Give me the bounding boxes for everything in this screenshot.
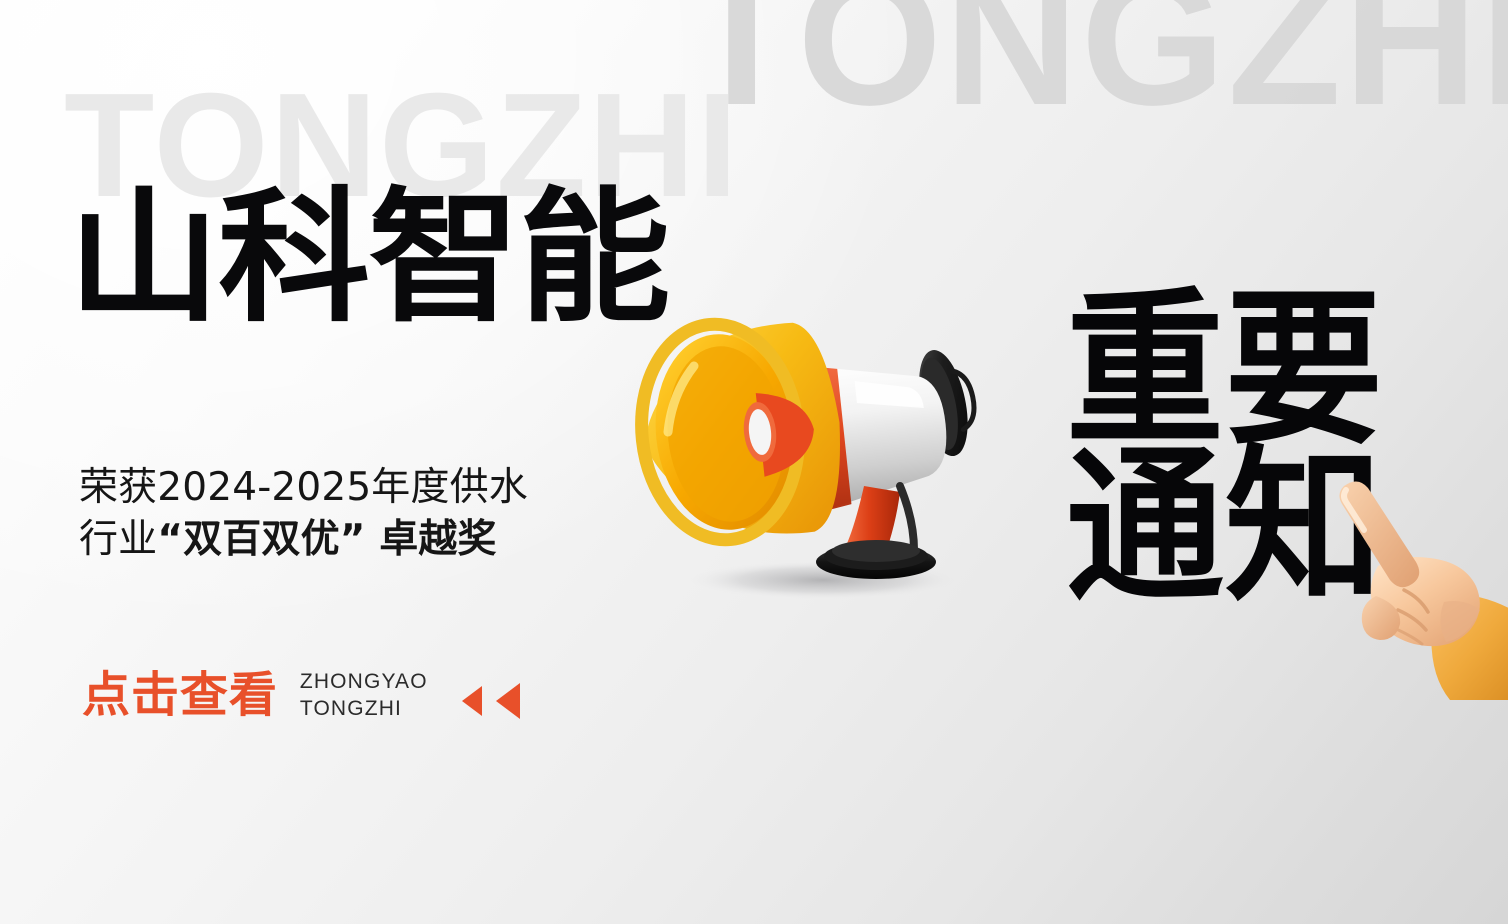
cta-pinyin-line-1: ZHONGYAO — [300, 668, 428, 695]
award-subtitle-line-2: 行业“双百双优” 卓越奖 — [79, 514, 528, 566]
cta-label[interactable]: 点击查看 — [82, 671, 278, 719]
notice-banner: TONGZHI TONGZHI 山科智能 荣获2024-2025年度供水 行业“… — [0, 0, 1508, 924]
notice-headline-line-1: 重要 — [1066, 292, 1384, 449]
award-subtitle-line-2-suffix: 卓越奖 — [366, 517, 497, 562]
megaphone-3d-icon — [608, 262, 1028, 602]
award-subtitle: 荣获2024-2025年度供水 行业“双百双优” 卓越奖 — [79, 462, 528, 566]
cta-pinyin: ZHONGYAO TONGZHI — [300, 668, 428, 722]
watermark-top: TONGZHI — [685, 0, 1508, 134]
pointing-hand-3d-icon — [1318, 470, 1508, 700]
arrow-left-small-icon[interactable] — [462, 686, 482, 716]
cta-pinyin-line-2: TONGZHI — [300, 695, 428, 722]
award-subtitle-line-1: 荣获2024-2025年度供水 — [79, 462, 528, 514]
cta-arrows[interactable] — [462, 671, 520, 719]
arrow-left-large-icon[interactable] — [496, 683, 520, 719]
cta-row[interactable]: 点击查看 ZHONGYAO TONGZHI — [82, 668, 520, 722]
award-subtitle-highlight: “双百双优” — [157, 517, 365, 562]
brand-title: 山科智能 — [68, 186, 669, 330]
award-subtitle-line-2-prefix: 行业 — [79, 517, 157, 562]
